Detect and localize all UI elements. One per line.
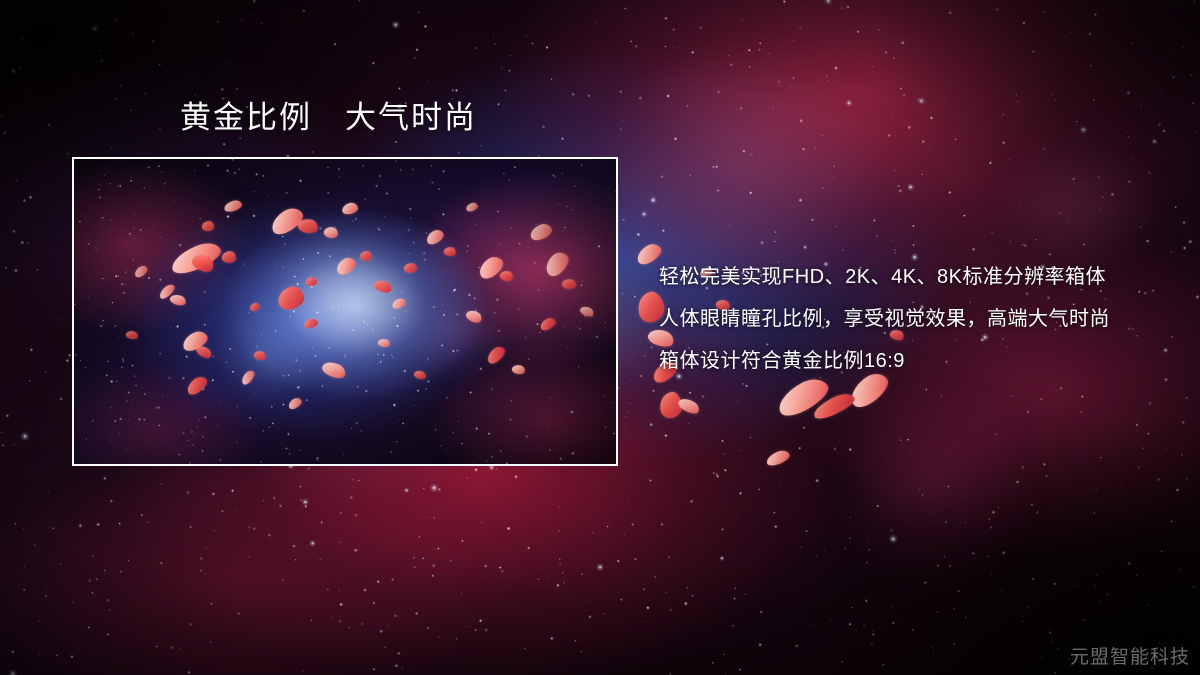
slide-canvas: 黄金比例 大气时尚 轻松完美实现FHD、2K、4K、8K标准分辨率箱体 人体眼睛… [0, 0, 1200, 675]
body-line-3: 箱体设计符合黄金比例16:9 [659, 340, 1110, 382]
body-line-1: 轻松完美实现FHD、2K、4K、8K标准分辨率箱体 [659, 256, 1110, 298]
inner-vignette [74, 159, 616, 464]
framed-image[interactable] [72, 157, 618, 466]
watermark: 元盟智能科技 [1070, 642, 1190, 669]
body-line-2: 人体眼睛瞳孔比例，享受视觉效果，高端大气时尚 [659, 298, 1110, 340]
page-title: 黄金比例 大气时尚 [180, 99, 477, 136]
body-text-block: 轻松完美实现FHD、2K、4K、8K标准分辨率箱体 人体眼睛瞳孔比例，享受视觉效… [659, 256, 1110, 382]
